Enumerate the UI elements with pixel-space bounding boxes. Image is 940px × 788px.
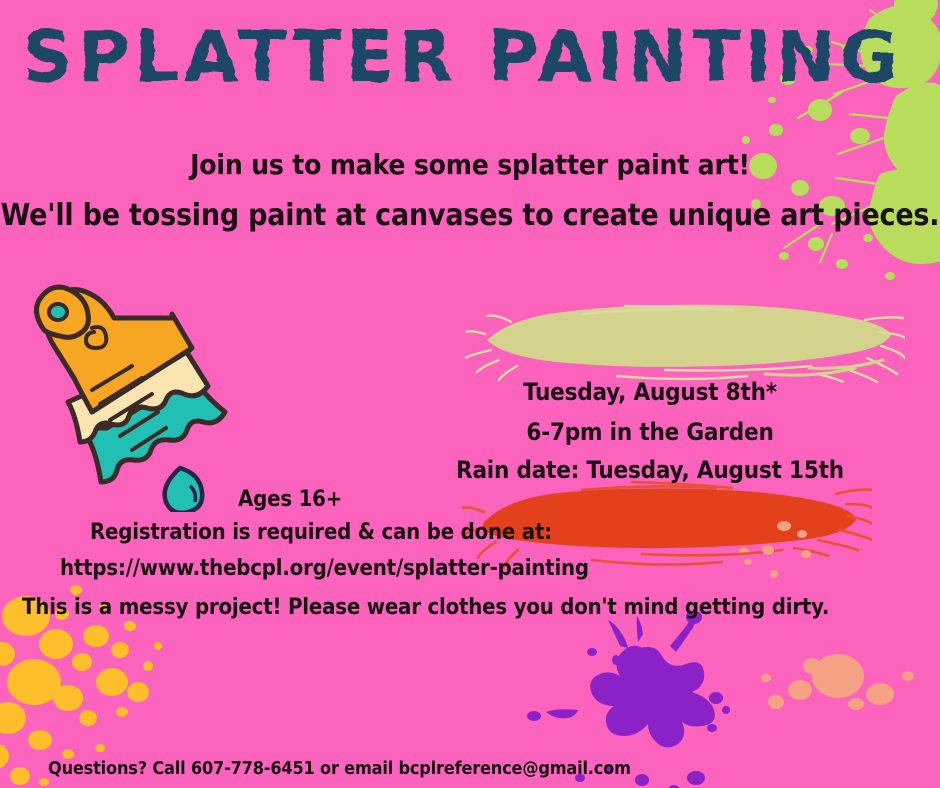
- registration-url[interactable]: https://www.thebcpl.org/event/splatter-p…: [60, 556, 589, 581]
- poster-canvas: SPLATTER PAINTING Join us to make some s…: [0, 0, 940, 788]
- age-requirement: Ages 16+: [238, 487, 342, 512]
- event-date: Tuesday, August 8th*: [440, 378, 860, 406]
- yellow-green-brush-stroke-icon: [465, 298, 905, 383]
- intro-line-1: Join us to make some splatter paint art!: [0, 148, 940, 181]
- contact-info: Questions? Call 607-778-6451 or email bc…: [48, 758, 631, 779]
- event-time-location: 6-7pm in the Garden: [440, 418, 860, 446]
- event-rain-date: Rain date: Tuesday, August 15th: [440, 456, 860, 484]
- page-title: SPLATTER PAINTING: [22, 16, 782, 102]
- intro-line-2: We'll be tossing paint at canvases to cr…: [0, 198, 940, 233]
- paintbrush-icon: [14, 272, 254, 512]
- registration-instructions: Registration is required & can be done a…: [90, 520, 552, 545]
- messy-warning: This is a messy project! Please wear clo…: [22, 595, 829, 620]
- page-title-text: SPLATTER PAINTING: [22, 15, 903, 98]
